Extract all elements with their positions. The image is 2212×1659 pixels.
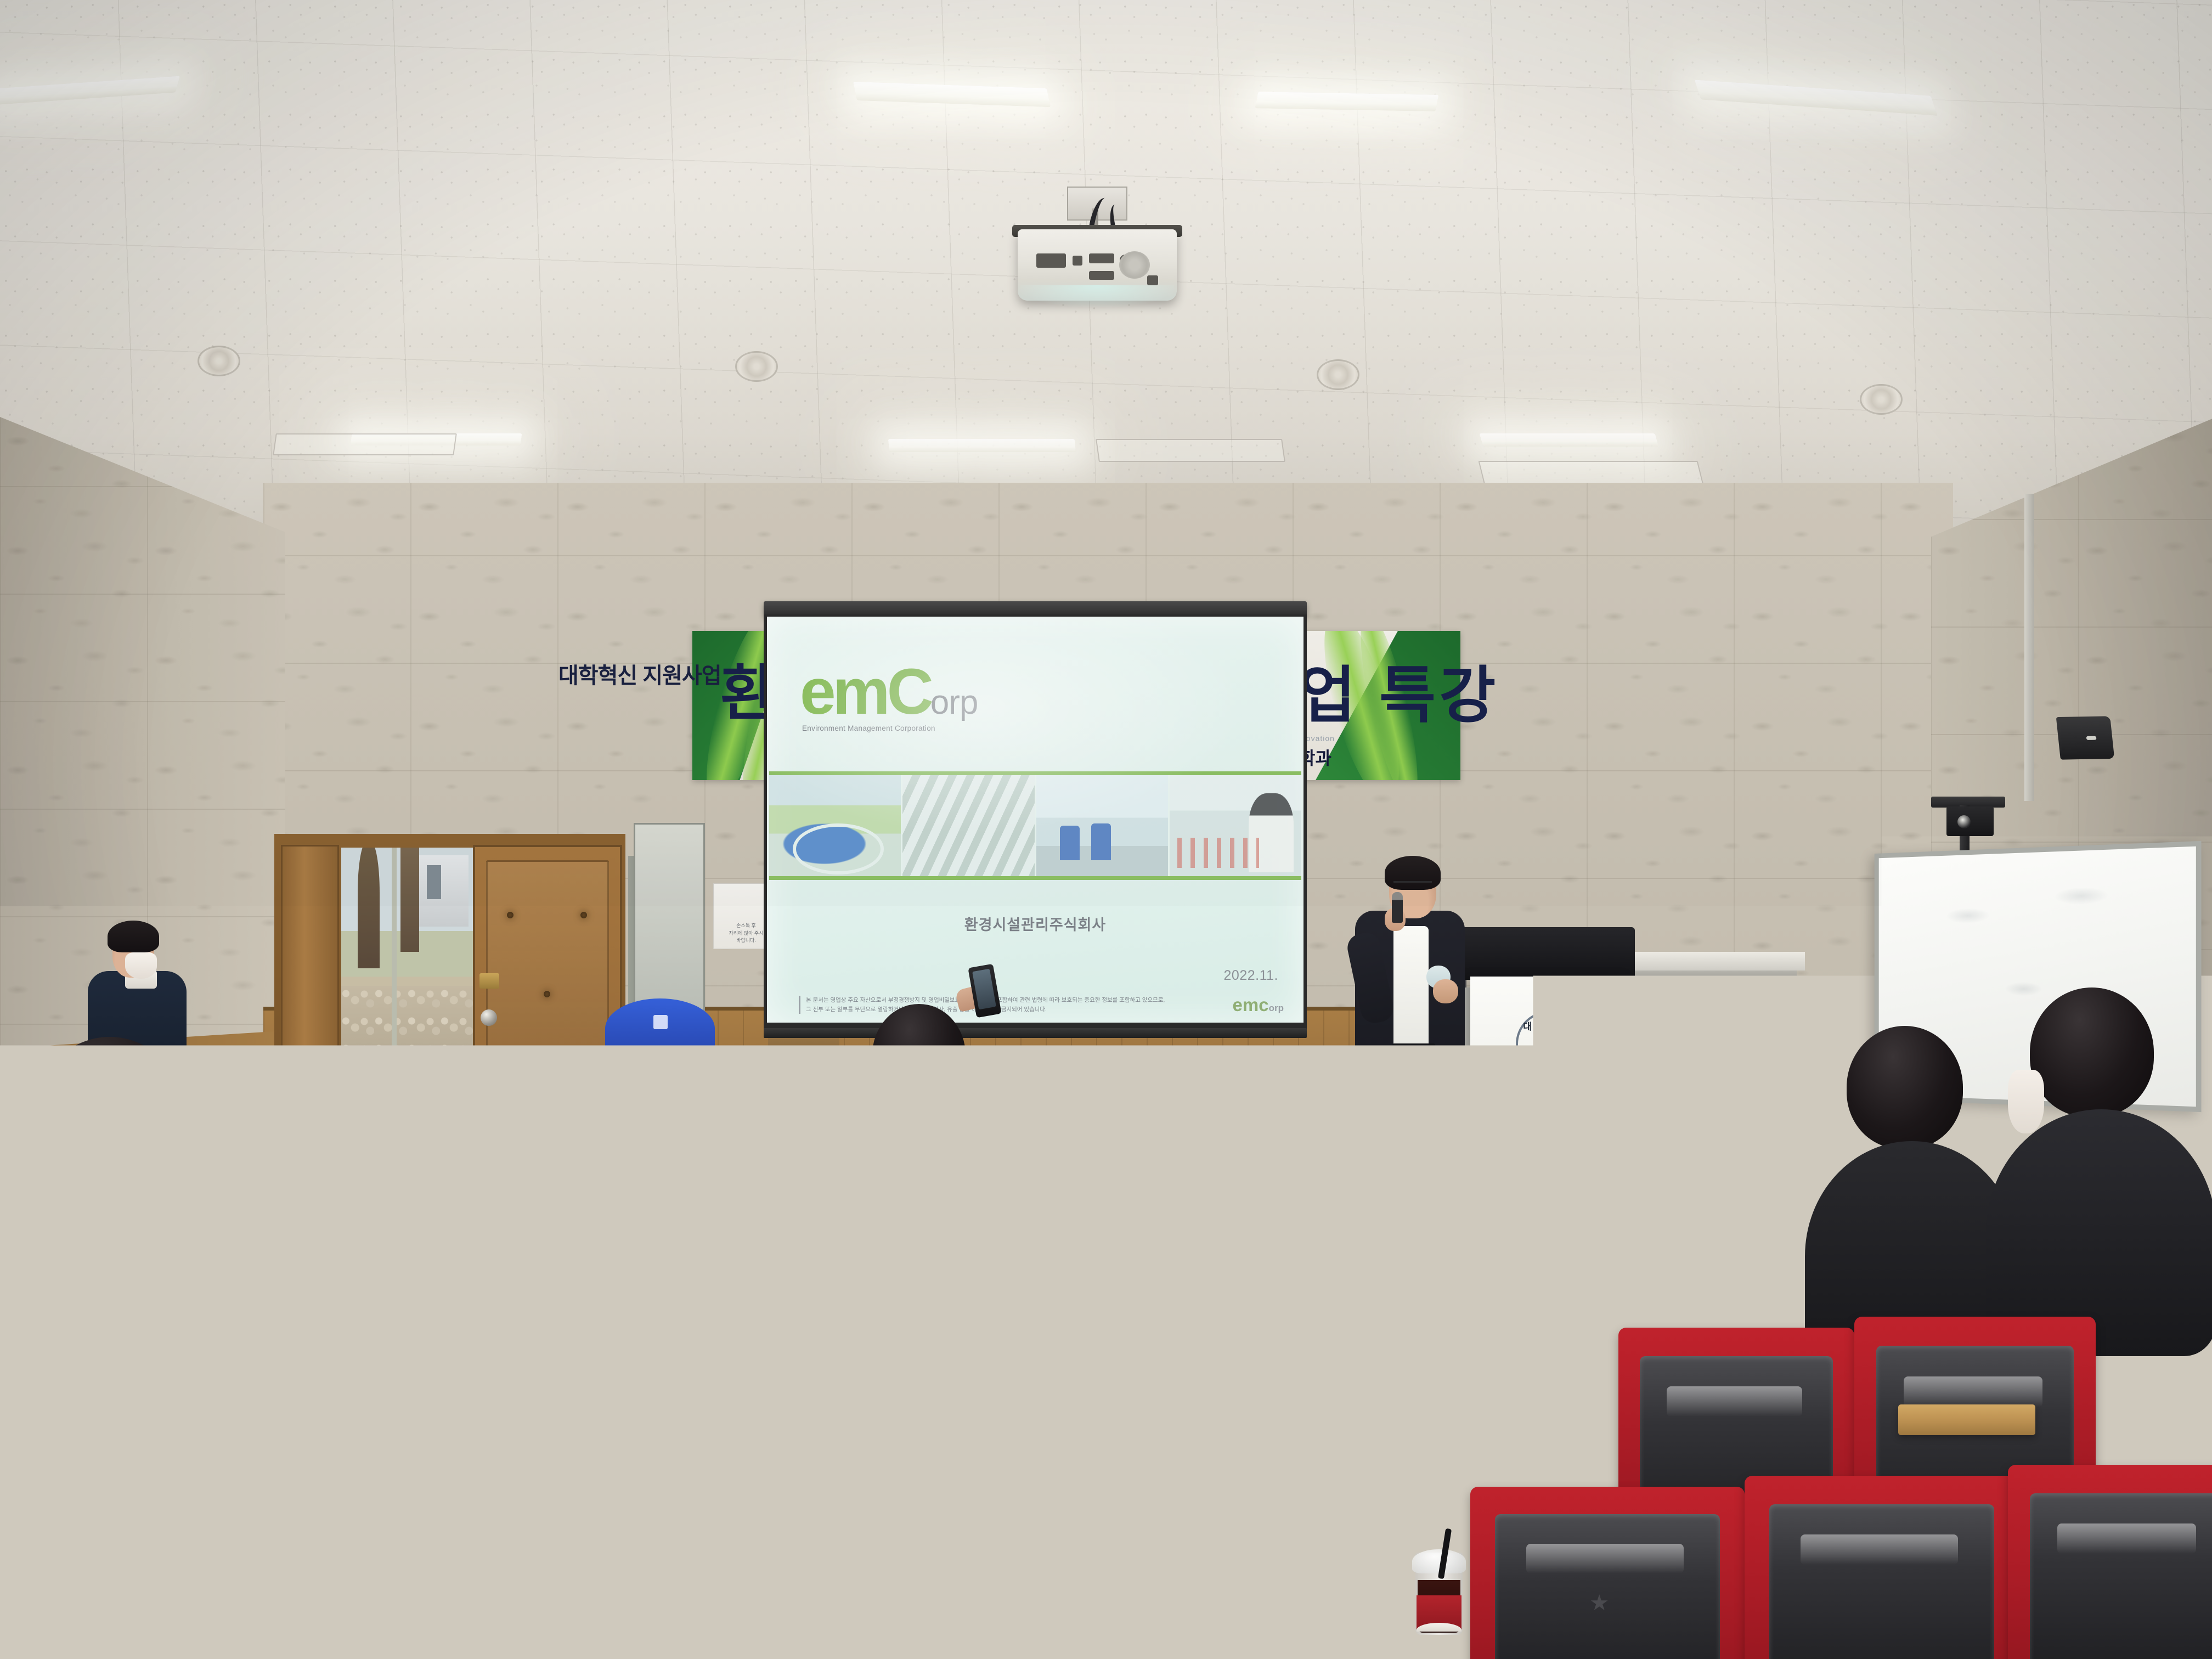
face-mask (919, 1113, 940, 1159)
seat-writing-tablet[interactable] (1196, 1311, 1289, 1333)
seat-highlight (1354, 1307, 1458, 1330)
cap-logo (653, 1015, 668, 1029)
strip-image-control-room (1036, 775, 1170, 876)
seat-highlight (1025, 1307, 1128, 1330)
seat-highlight (1526, 1544, 1684, 1573)
projector-vent (1119, 251, 1150, 279)
seat-writing-tablet[interactable] (1355, 1383, 1481, 1411)
seat-writing-tablet[interactable] (1898, 1404, 2035, 1435)
water-bottle-label (679, 1288, 704, 1324)
university-emblem-text: 대구대학교 (1523, 1019, 1574, 1032)
projector-port (1089, 271, 1114, 280)
ceiling-light-fixture (1480, 433, 1659, 447)
screen-bottom-weight-bar (764, 1028, 1307, 1038)
projector-port (1036, 253, 1066, 268)
door-tuft (507, 912, 513, 918)
projection-screen: emCorp Environment Management Corporatio… (767, 617, 1304, 1023)
seat-highlight (23, 1538, 180, 1568)
auditorium-seat[interactable]: ★ (1470, 1487, 1745, 1659)
person-head (834, 1053, 930, 1158)
auditorium-seat[interactable] (2008, 1465, 2212, 1659)
slide-company-name: 환경시설관리주식회사 (767, 913, 1304, 934)
door-latch[interactable] (479, 973, 499, 989)
presenter-glasses (1393, 881, 1432, 890)
seat-highlight (1801, 1534, 1958, 1565)
staff-hair (108, 921, 159, 952)
seat-highlight (2057, 1523, 2196, 1554)
wall-speaker (2056, 716, 2115, 759)
door-tuft (580, 1070, 587, 1076)
auditorium-seat[interactable]: ★ (636, 1492, 911, 1659)
ceiling-panel (1096, 439, 1285, 462)
side-table (1624, 952, 1805, 970)
seat-writing-tablet[interactable] (1042, 1393, 1169, 1422)
staff-face-mask (125, 952, 157, 979)
seat-highlight (1667, 1386, 1802, 1417)
ceiling-air-diffuser (198, 346, 240, 376)
ceiling-air-diffuser (1317, 359, 1359, 390)
ceiling-air-diffuser (735, 351, 778, 382)
window-tree (400, 848, 419, 952)
slide-date: 2022.11. (1224, 968, 1278, 984)
seat-star-emboss: ★ (86, 1587, 109, 1610)
seat-writing-tablet[interactable] (971, 1339, 1075, 1362)
seat-cushion: ★ (1495, 1514, 1720, 1659)
banner-title-right: 업 특강 (1299, 665, 1499, 726)
seat-highlight (961, 1555, 1119, 1584)
slide-footer-logo: emcorp (1233, 996, 1284, 1014)
camera-lens (1957, 815, 1971, 828)
person-head (1640, 1053, 1753, 1172)
seat-highlight (692, 1549, 850, 1579)
seat-cushion (2030, 1493, 2212, 1659)
ceiling-light-fixture (888, 439, 1076, 452)
person-head (1847, 1026, 1963, 1149)
auditorium-seat[interactable] (1745, 1476, 2019, 1659)
presenter-belt (1392, 1043, 1435, 1052)
seat-highlight (1904, 1376, 2042, 1407)
emc-logo-tagline: Environment Management Corporation (802, 724, 935, 732)
presenter-hand (1433, 979, 1458, 1003)
hand-sanitizer-pump (543, 1052, 552, 1064)
ceiling-air-diffuser (1860, 384, 1903, 415)
door-knob[interactable] (481, 1009, 497, 1026)
door-tuft (507, 1070, 513, 1076)
wall-camera-mount (1931, 797, 2005, 839)
wall-conduit (2024, 494, 2034, 801)
door-tuft (580, 912, 587, 918)
projector-light-beam (1020, 285, 1174, 307)
seat-star-emboss: ★ (755, 1598, 778, 1621)
cap-brim (608, 1047, 691, 1072)
seat-cushion (1769, 1504, 1994, 1659)
window-mullion (392, 848, 397, 1056)
seat-cushion (1236, 1158, 1348, 1267)
seat-writing-tablet[interactable] (1487, 1426, 1618, 1456)
emc-logo-orp: orp (930, 683, 978, 722)
projector-port (1089, 253, 1114, 263)
presenter-shirt (1393, 926, 1429, 1052)
auditorium-seat[interactable] (905, 1498, 1180, 1659)
strip-image-wastewater-plant (769, 775, 902, 876)
seat-star-emboss: ★ (1589, 1592, 1612, 1615)
side-table-base (1632, 968, 1797, 985)
seat-writing-tablet[interactable] (1267, 1339, 1366, 1362)
face-mask (1442, 1125, 1479, 1185)
emc-logo: emCorp Environment Management Corporatio… (800, 659, 978, 724)
door-tuft (544, 991, 550, 997)
strip-image-laboratory (1170, 775, 1301, 876)
seat-highlight (286, 1555, 444, 1584)
ceiling-panel (273, 433, 457, 455)
slide-footer-logo-sub: orp (1269, 1003, 1284, 1013)
slide-image-strip (769, 771, 1301, 880)
person-head (469, 1075, 578, 1193)
exterior-window-view (341, 848, 473, 1056)
seat-cushion (255, 1525, 480, 1659)
microphone (1392, 892, 1403, 923)
seat-cushion (930, 1525, 1155, 1659)
seat-writing-tablet[interactable] (219, 1421, 357, 1452)
seat-cushion: ★ (0, 1509, 217, 1659)
banner-subtitle: 대학혁신 지원사업 (558, 658, 721, 690)
person-head (2030, 988, 2154, 1117)
emc-logo-m: m (833, 659, 887, 724)
auditorium-seat[interactable] (230, 1498, 505, 1659)
projector-port (1147, 275, 1158, 285)
projector-port (1073, 256, 1082, 266)
wall-equipment-panel (634, 823, 705, 1020)
jacket-label-patch (22, 1251, 88, 1269)
strip-image-sedimentation-basins (902, 775, 1036, 876)
ceiling-panel (1479, 461, 1704, 485)
seat-highlight (855, 1301, 958, 1324)
window-gravel-ground (341, 986, 473, 1056)
ceiling-light-fixture (1255, 92, 1439, 111)
seat-cushion: ★ (661, 1520, 886, 1659)
lectern-monitor (1454, 927, 1635, 980)
seat-highlight (794, 1392, 930, 1422)
slide-footer-logo-main: emc (1233, 995, 1269, 1015)
seat-writing-tablet[interactable] (625, 1426, 763, 1457)
window-building (418, 855, 469, 927)
lecture-hall-photo: University Innovation 대학혁신 지원사업 환 업 특강 학… (0, 0, 2212, 1659)
face-mask (2008, 1070, 2044, 1133)
seat-highlight (26, 1375, 162, 1406)
emc-logo-e: e (800, 659, 833, 724)
auditorium-seat[interactable]: ★ (0, 1481, 241, 1659)
seat-highlight (1251, 1175, 1330, 1193)
water-bottle-cap (680, 1246, 703, 1262)
emc-logo-c: C (887, 659, 930, 724)
coffee-cup-sleeve (1417, 1595, 1462, 1632)
window-tree (358, 848, 380, 968)
